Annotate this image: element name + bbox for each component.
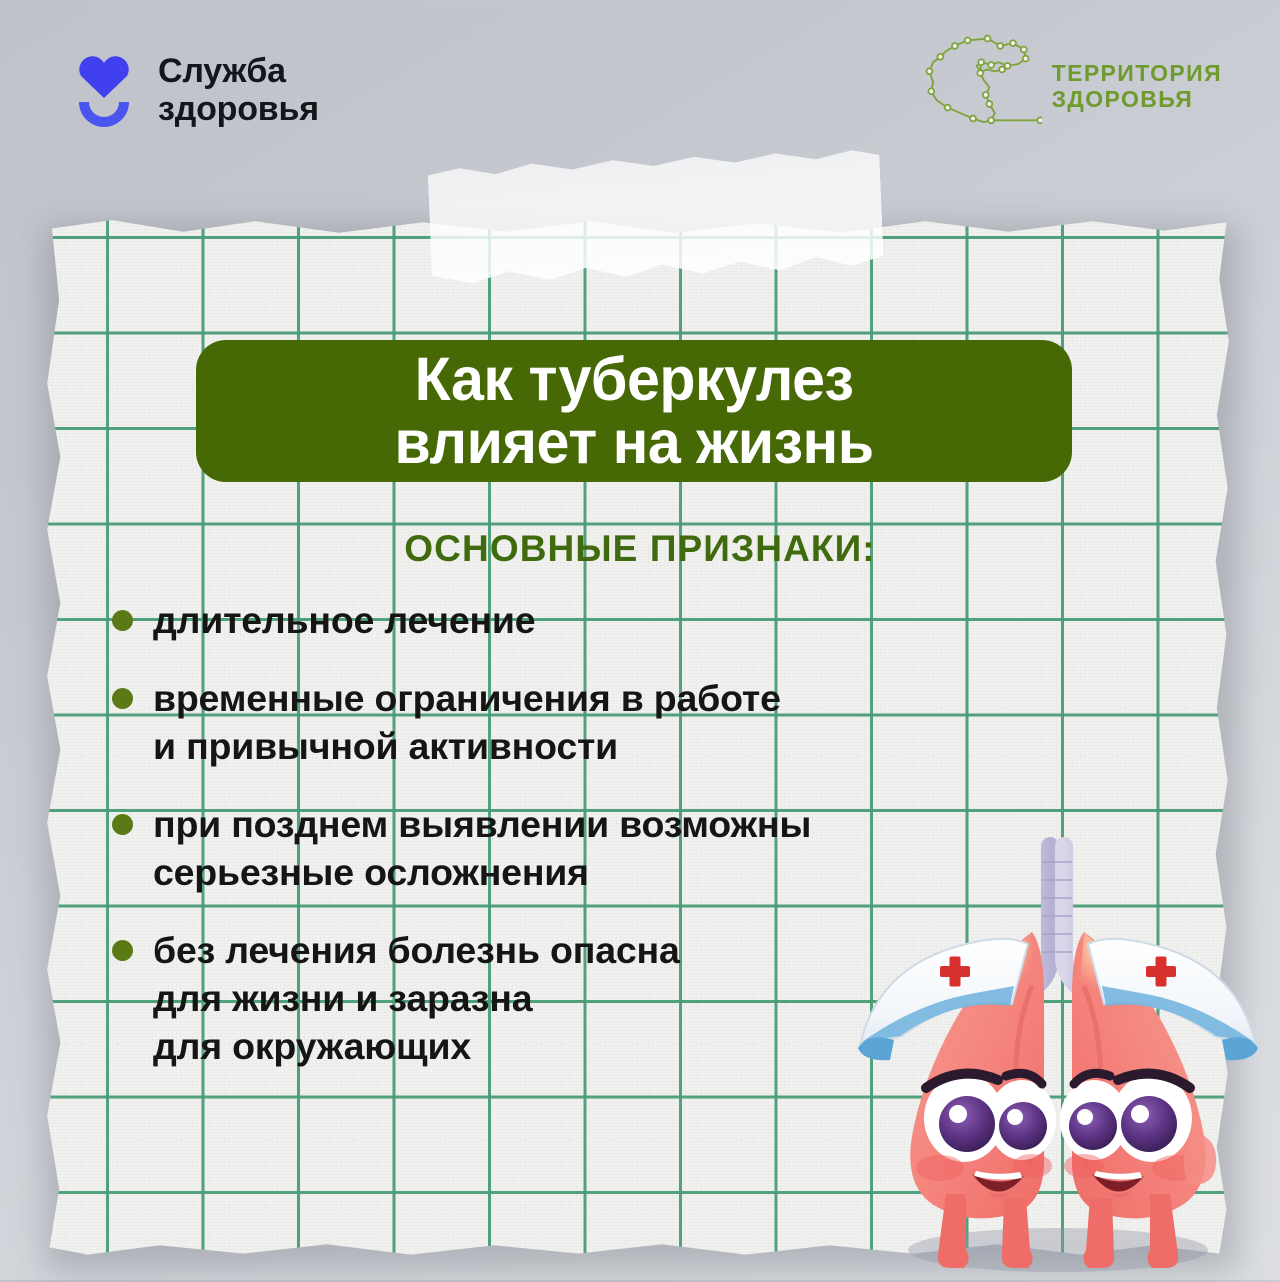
list-item-line: для жизни и заразна	[153, 974, 680, 1022]
list-item-text: без лечения болезнь опасна для жизни и з…	[153, 926, 680, 1070]
bullet-dot-icon	[112, 814, 133, 835]
list-item-line: длительное лечение	[153, 596, 535, 644]
title-line2: влияет на жизнь	[394, 411, 873, 474]
list-item-line: временные ограничения в работе	[153, 674, 781, 722]
service-logo-line2: здоровья	[158, 90, 319, 128]
bullet-dot-icon	[112, 610, 133, 631]
service-logo-text: Служба здоровья	[158, 52, 319, 128]
right-lung-character	[1060, 932, 1258, 1268]
territory-logo-text: ТЕРРИТОРИЯ ЗДОРОВЬЯ	[1052, 61, 1222, 113]
title-banner: Как туберкулез влияет на жизнь	[196, 340, 1072, 482]
list-item-line: серьезные осложнения	[153, 848, 811, 896]
territory-logo-line2: ЗДОРОВЬЯ	[1052, 87, 1222, 113]
lungs-nurse-characters	[836, 836, 1280, 1282]
section-subtitle: ОСНОВНЫЕ ПРИЗНАКИ:	[0, 528, 1280, 570]
list-item-line: без лечения болезнь опасна	[153, 926, 680, 974]
heart-smile-icon	[72, 52, 136, 128]
title-line1: Как туберкулез	[394, 348, 873, 411]
service-logo: Служба здоровья	[72, 52, 319, 128]
list-item-text: при позднем выявлении возможны серьезные…	[153, 800, 811, 896]
left-lung-character	[858, 932, 1056, 1268]
bullet-dot-icon	[112, 940, 133, 961]
territory-logo: ТЕРРИТОРИЯ ЗДОРОВЬЯ	[924, 34, 1222, 139]
service-logo-line1: Служба	[158, 52, 319, 90]
list-item: длительное лечение	[112, 596, 1032, 644]
list-item: временные ограничения в работе и привычн…	[112, 674, 1032, 770]
bullet-dot-icon	[112, 688, 133, 709]
list-item-text: длительное лечение	[153, 596, 535, 644]
region-map-dots-icon	[924, 34, 1042, 139]
list-item-line: и привычной активности	[153, 722, 781, 770]
list-item-line: при позднем выявлении возможны	[153, 800, 811, 848]
list-item-line: для окружающих	[153, 1022, 680, 1070]
list-item-text: временные ограничения в работе и привычн…	[153, 674, 781, 770]
territory-logo-line1: ТЕРРИТОРИЯ	[1052, 61, 1222, 87]
page-title: Как туберкулез влияет на жизнь	[394, 348, 873, 474]
